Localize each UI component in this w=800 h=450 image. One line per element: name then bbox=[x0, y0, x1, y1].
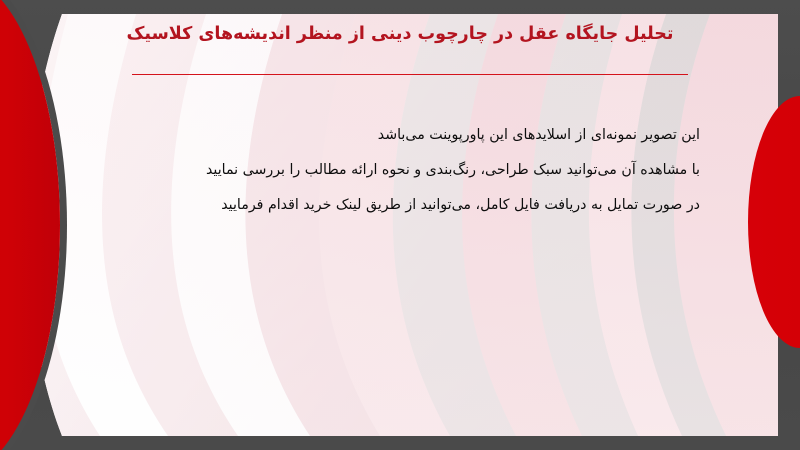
slide-content-card bbox=[26, 14, 778, 436]
body-line: با مشاهده آن می‌توانید سبک طراحی، رنگ‌بن… bbox=[40, 153, 700, 188]
background-arc-bands-decoration bbox=[26, 14, 778, 436]
title-underline-divider bbox=[132, 74, 688, 75]
body-line: این تصویر نمونه‌ای از اسلایدهای این پاور… bbox=[40, 118, 700, 153]
slide-title: تحلیل جایگاه عقل در چارچوب دینی از منظر … bbox=[100, 22, 700, 47]
body-line: در صورت تمایل به دریافت فایل کامل، می‌تو… bbox=[40, 188, 700, 223]
presentation-slide: تحلیل جایگاه عقل در چارچوب دینی از منظر … bbox=[0, 0, 800, 450]
slide-body-text: این تصویر نمونه‌ای از اسلایدهای این پاور… bbox=[40, 118, 700, 222]
